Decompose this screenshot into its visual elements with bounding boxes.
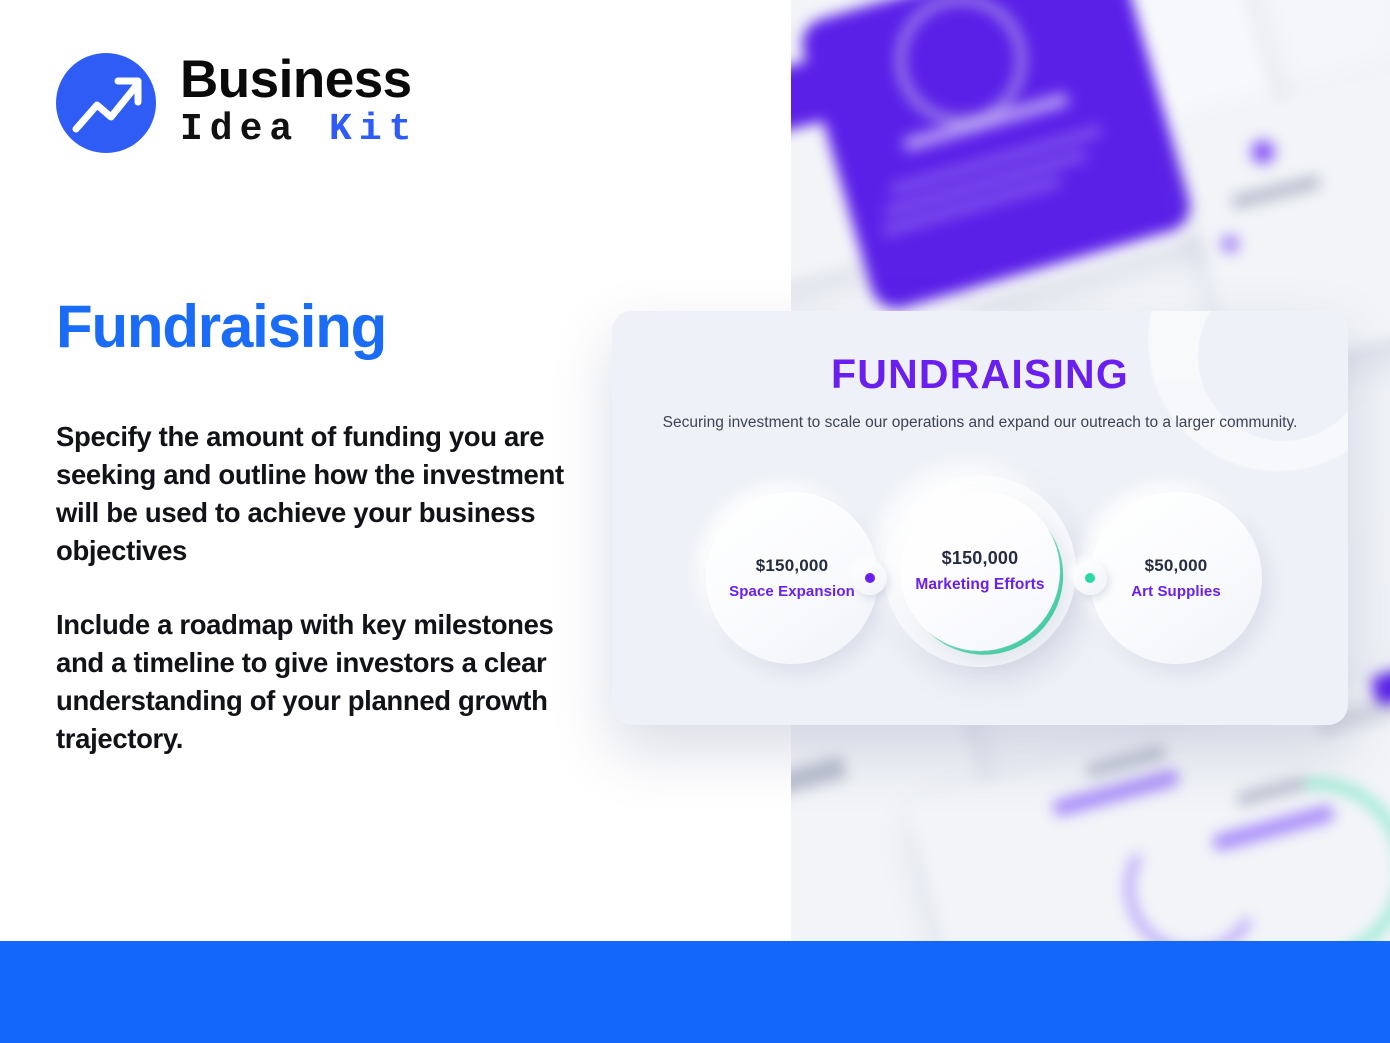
funding-allocation-diagram: $150,000 Space Expansion $150,000 Market… <box>612 467 1348 697</box>
bottom-accent-bar <box>0 941 1390 1043</box>
brand-name-line2: Idea Kit <box>180 108 418 152</box>
dot-glyph <box>1085 573 1095 583</box>
funding-label: Marketing Efforts <box>915 576 1044 595</box>
funding-label: Art Supplies <box>1131 583 1221 601</box>
brand-name-line1: Business <box>180 55 418 106</box>
card-title: FUNDRAISING <box>612 351 1348 398</box>
funding-item-center[interactable]: $150,000 Marketing Efforts <box>900 491 1060 651</box>
page-title: Fundraising <box>56 295 386 358</box>
paragraph-1: Specify the amount of funding you are se… <box>56 418 566 570</box>
growth-arrow-icon <box>56 53 156 153</box>
brand-logo: Business Idea Kit <box>56 53 418 153</box>
funding-amount: $150,000 <box>756 555 829 576</box>
body-copy: Specify the amount of funding you are se… <box>56 418 566 758</box>
brand-idea-text: Idea <box>180 108 299 151</box>
dot-glyph <box>865 573 875 583</box>
funding-item-center-group: $150,000 Marketing Efforts <box>876 467 1084 697</box>
funding-item-right[interactable]: $50,000 Art Supplies <box>1090 492 1262 664</box>
card-subtitle: Securing investment to scale our operati… <box>612 412 1348 434</box>
funding-label: Space Expansion <box>729 583 855 601</box>
paragraph-2: Include a roadmap with key milestones an… <box>56 606 566 758</box>
fundraising-card: FUNDRAISING Securing investment to scale… <box>612 311 1348 725</box>
right-connector-dot <box>1073 561 1107 595</box>
funding-amount: $150,000 <box>942 547 1019 570</box>
brand-kit-text: Kit <box>329 108 418 151</box>
slide-root: Business Idea Kit Fundraising Specify th… <box>0 0 1390 1043</box>
funding-amount: $50,000 <box>1145 555 1208 576</box>
left-connector-dot <box>853 561 887 595</box>
